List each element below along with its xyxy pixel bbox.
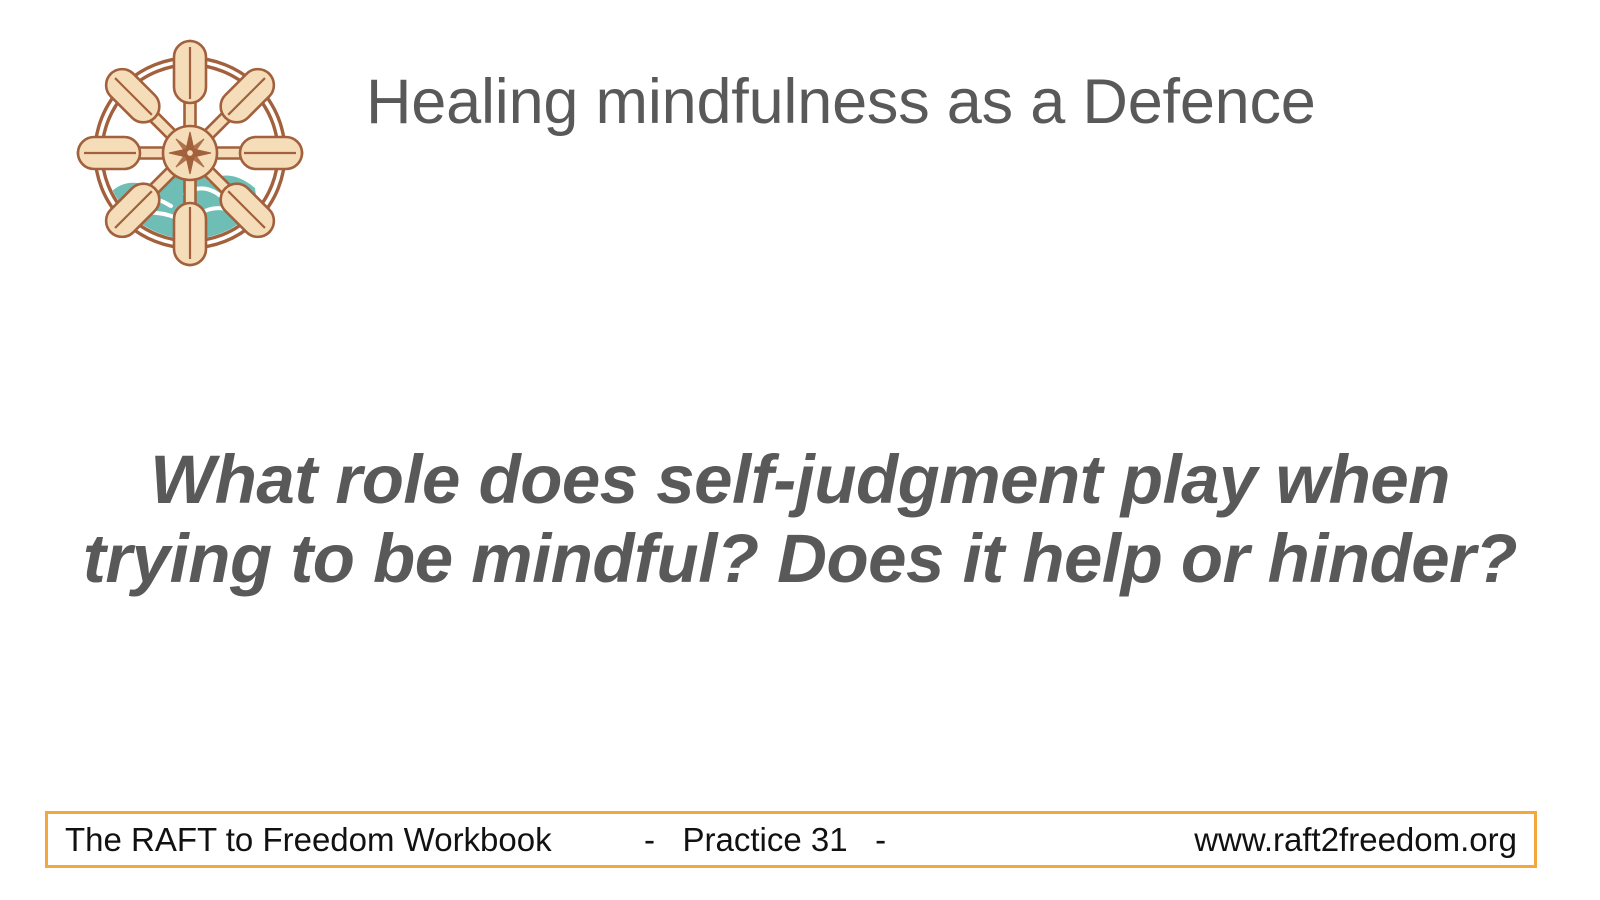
reflection-question: What role does self-judgment play when t… [50,440,1550,598]
raft-ships-wheel-logo [73,36,307,270]
footer-practice-number: - Practice 31 - [644,822,886,858]
footer-workbook-title: The RAFT to Freedom Workbook [65,822,552,858]
slide-header: Healing mindfulness as a Defence [0,0,1600,300]
footer-bar: The RAFT to Freedom Workbook - Practice … [45,811,1537,868]
main-content: What role does self-judgment play when t… [50,440,1550,598]
footer-website-url[interactable]: www.raft2freedom.org [1194,822,1517,858]
page-title: Healing mindfulness as a Defence [366,66,1316,138]
